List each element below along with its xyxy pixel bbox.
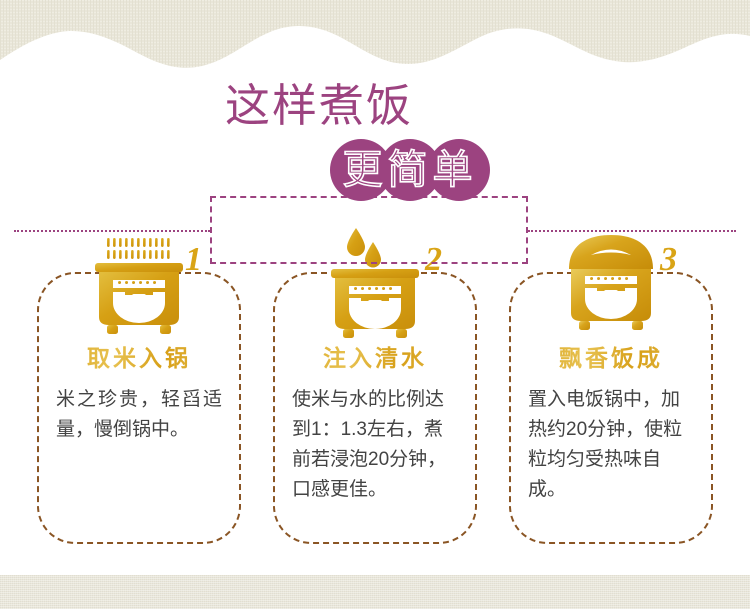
header-dashed-frame — [210, 196, 528, 264]
step-description: 米之珍贵，轻舀适量，慢倒锅中。 — [56, 385, 222, 445]
page-title: 这样煮饭 — [225, 83, 525, 128]
top-wave-decoration — [0, 0, 750, 80]
bottom-band-decoration — [0, 575, 750, 609]
step-number: 1 — [185, 241, 202, 279]
infographic-stage: 这样煮饭 更简单 — [0, 0, 750, 609]
step-number: 3 — [660, 241, 677, 279]
rice-cooker-closed-lid-icon — [509, 225, 713, 343]
subtitle-badge: 更简单 — [330, 139, 490, 201]
header-rule-left — [14, 230, 210, 232]
steps-container: 1 2 3 取米入锅 注入清水 飘香饭成 米之珍贵，轻舀适量，慢倒锅中。 使米与… — [0, 225, 750, 535]
step-title: 取米入锅 — [37, 343, 241, 373]
step-title: 飘香饭成 — [509, 343, 713, 373]
step-title: 注入清水 — [273, 343, 477, 373]
header-rule-right — [528, 230, 736, 232]
step-description: 使米与水的比例达到1：1.3左右，煮前若浸泡20分钟，口感更佳。 — [292, 385, 458, 505]
step-description: 置入电饭锅中，加热约20分钟，使粒粒均匀受热味自成。 — [528, 385, 694, 505]
page-subtitle: 更简单 — [330, 139, 490, 201]
